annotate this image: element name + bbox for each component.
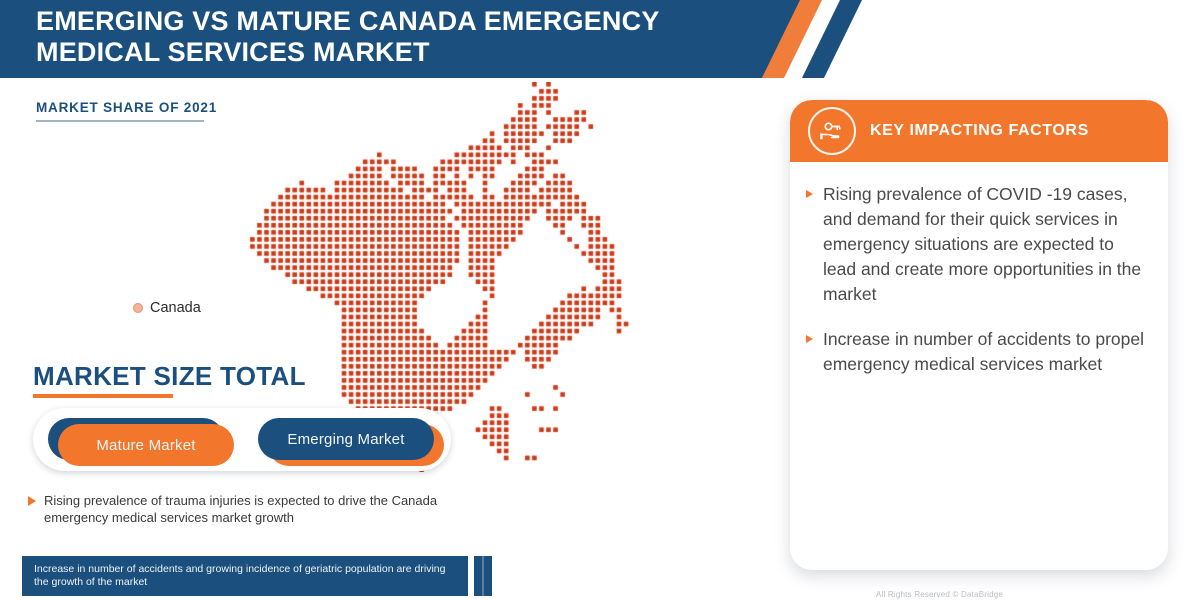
subtitle-rule <box>36 120 204 122</box>
infographic-canvas: EMERGING VS MATURE CANADA EMERGENCY MEDI… <box>0 0 1200 600</box>
key-factor-text: Increase in number of accidents to prope… <box>823 327 1148 377</box>
market-size-total-rule <box>33 394 173 398</box>
mature-market-label: Mature Market <box>96 437 195 454</box>
triangle-bullet-icon <box>806 190 813 198</box>
map-legend: Canada <box>133 300 201 316</box>
header-bar: EMERGING VS MATURE CANADA EMERGENCY MEDI… <box>0 0 760 78</box>
emerging-market-pill[interactable]: Emerging Market <box>258 418 434 460</box>
market-size-total-title: MARKET SIZE TOTAL <box>33 362 306 390</box>
mature-market-pill[interactable]: Mature Market <box>58 424 234 466</box>
left-bullet-text: Rising prevalence of trauma injuries is … <box>44 492 478 526</box>
key-factors-list: Rising prevalence of COVID -19 cases, an… <box>790 162 1168 397</box>
triangle-bullet-icon <box>28 496 36 506</box>
banner-end-tab-line <box>482 556 484 596</box>
key-factor-item: Rising prevalence of COVID -19 cases, an… <box>806 182 1148 307</box>
page-title: EMERGING VS MATURE CANADA EMERGENCY MEDI… <box>36 6 736 68</box>
emerging-market-label: Emerging Market <box>287 431 404 448</box>
hand-holding-key-icon <box>808 107 856 155</box>
triangle-bullet-icon <box>806 335 813 343</box>
bottom-banner: Increase in number of accidents and grow… <box>22 556 468 596</box>
market-size-total-heading: MARKET SIZE TOTAL <box>33 362 306 398</box>
market-share-subtitle: MARKET SHARE OF 2021 <box>36 100 217 122</box>
key-factors-header: KEY IMPACTING FACTORS <box>790 100 1168 162</box>
market-share-label: MARKET SHARE OF 2021 <box>36 100 217 120</box>
key-impacting-factors-card: KEY IMPACTING FACTORS Rising prevalence … <box>790 100 1168 570</box>
footer-attribution: All Rights Reserved © DataBridge <box>876 590 1003 599</box>
key-factors-title: KEY IMPACTING FACTORS <box>870 122 1089 140</box>
legend-marker-canada <box>133 303 143 313</box>
left-bullet-item: Rising prevalence of trauma injuries is … <box>28 492 478 526</box>
key-factor-text: Rising prevalence of COVID -19 cases, an… <box>823 182 1148 307</box>
key-factor-item: Increase in number of accidents to prope… <box>806 327 1148 377</box>
legend-label-canada: Canada <box>150 300 201 316</box>
bottom-banner-text: Increase in number of accidents and grow… <box>22 563 468 589</box>
